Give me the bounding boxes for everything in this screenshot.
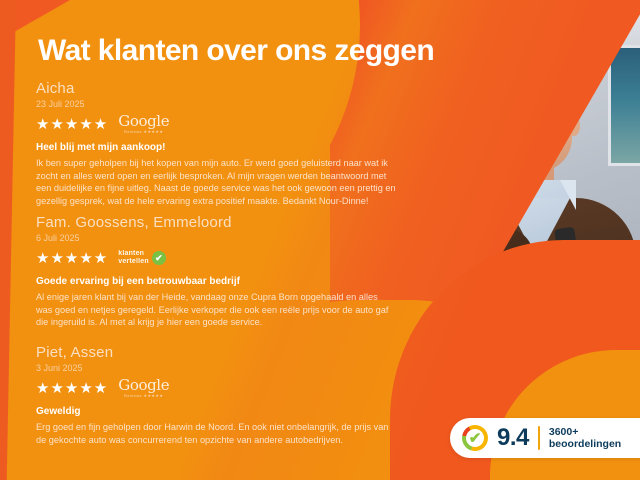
star-rating: ★★★★★ [36,117,108,132]
review-card: Piet, Assen 3 Juni 2025 ★★★★★ Google Rev… [36,344,416,446]
review-card: Aicha 23 Juli 2025 ★★★★★ Google Reviews … [36,80,416,207]
reviewer-name: Piet, Assen [36,344,416,362]
overall-rating-badge[interactable]: ✔ 9.4 3600+ beoordelingen [450,418,640,458]
badge-divider [538,426,540,450]
review-body: Erg goed en fijn geholpen door Harwin de… [36,421,396,446]
review-date: 23 Juli 2025 [36,98,416,111]
review-date: 3 Juni 2025 [36,362,416,375]
star-rating: ★★★★★ [36,251,108,266]
review-body: Ik ben super geholpen bij het kopen van … [36,157,396,207]
klantenvertellen-line2: vertellen [118,258,149,266]
kiyoh-seal-icon: ✔ [462,425,488,451]
google-wordmark: Google [118,378,169,393]
review-body: Al enige jaren klant bij van der Heide, … [36,291,396,329]
review-title: Geweldig [36,405,416,419]
google-reviews-logo: Google Reviews ★★★★★ [118,114,169,134]
check-circle-icon: ✔ [152,251,166,265]
testimonials-banner: VDH Wat klanten over ons zeggen Aicha 23… [0,0,640,480]
review-card: Fam. Goossens, Emmeloord 6 Juli 2025 ★★★… [36,214,416,329]
review-title: Goede ervaring bij een betrouwbaar bedri… [36,275,416,289]
rating-score: 9.4 [497,426,529,450]
reviewer-name: Aicha [36,80,416,98]
review-title: Heel blij met mijn aankoop! [36,141,416,155]
review-meta: ★★★★★ Google Reviews ★★★★★ [36,377,416,399]
google-reviews-sub: Reviews ★★★★★ [124,394,163,398]
page-title: Wat klanten over ons zeggen [38,34,434,68]
reviewer-name: Fam. Goossens, Emmeloord [36,214,416,232]
star-rating: ★★★★★ [36,381,108,396]
review-date: 6 Juli 2025 [36,232,416,245]
klantenvertellen-line1: klanten [118,250,149,258]
review-meta: ★★★★★ klanten vertellen ✔ [36,247,416,269]
review-count-label: beoordelingen [549,438,621,450]
google-reviews-sub: Reviews ★★★★★ [124,130,163,134]
checkmark-icon: ✔ [462,425,488,451]
review-meta: ★★★★★ Google Reviews ★★★★★ [36,113,416,135]
review-count: 3600+ [549,426,621,438]
google-wordmark: Google [118,114,169,129]
google-reviews-logo: Google Reviews ★★★★★ [118,378,169,398]
klantenvertellen-logo: klanten vertellen ✔ [118,250,166,266]
